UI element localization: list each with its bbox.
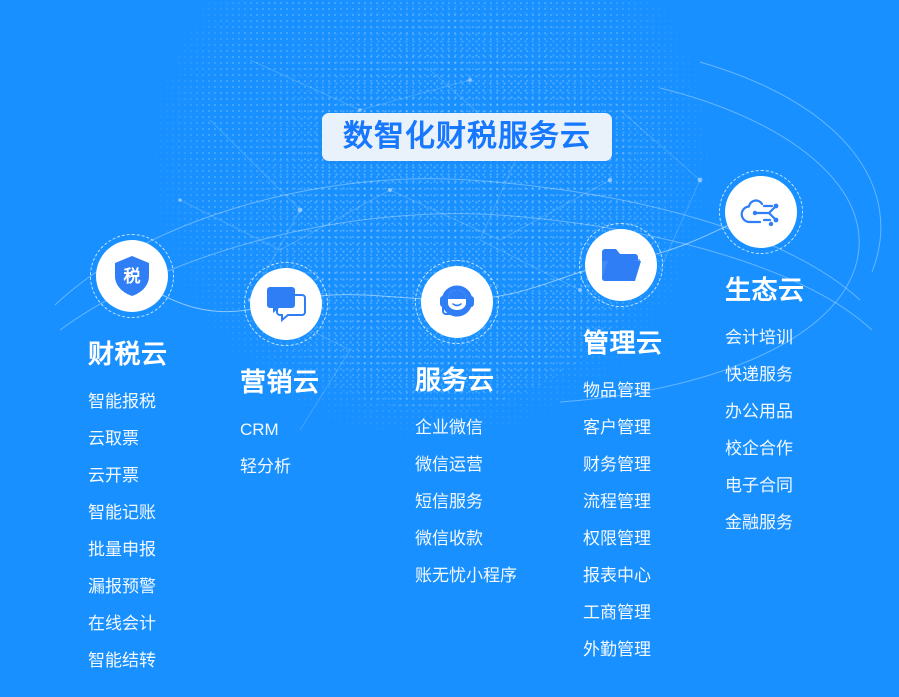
headset-agent-icon-wrap — [421, 266, 493, 338]
folder-icon — [585, 229, 657, 301]
column-heading: 服务云 — [415, 360, 517, 397]
column-ecology-cloud[interactable]: 生态云 会计培训 快递服务 办公用品 校企合作 电子合同 金融服务 — [725, 176, 805, 531]
list-item[interactable]: 校企合作 — [725, 440, 805, 457]
list-item[interactable]: 智能记账 — [88, 504, 168, 521]
list-item[interactable]: 财务管理 — [583, 456, 663, 473]
column-heading: 营销云 — [240, 362, 322, 399]
list-item[interactable]: 智能报税 — [88, 393, 168, 410]
list-item[interactable]: 办公用品 — [725, 403, 805, 420]
tax-shield-icon: 税 — [96, 240, 168, 312]
column-heading: 财税云 — [88, 334, 168, 371]
column-item-list: 智能报税 云取票 云开票 智能记账 批量申报 漏报预警 在线会计 智能结转 — [88, 393, 168, 669]
list-item[interactable]: 智能结转 — [88, 652, 168, 669]
list-item[interactable]: 客户管理 — [583, 419, 663, 436]
list-item[interactable]: 微信运营 — [415, 456, 517, 473]
banner-root: 数智化财税服务云 税 财税云 智能报税 云取票 云开票 智能记账 批量申报 漏报… — [0, 0, 899, 697]
list-item[interactable]: 漏报预警 — [88, 578, 168, 595]
banner-title: 数智化财税服务云 — [343, 122, 591, 152]
folder-icon-wrap — [585, 229, 657, 301]
list-item[interactable]: 物品管理 — [583, 382, 663, 399]
cloud-network-icon-wrap — [725, 176, 797, 248]
column-item-list: 物品管理 客户管理 财务管理 流程管理 权限管理 报表中心 工商管理 外勤管理 — [583, 382, 663, 658]
svg-text:税: 税 — [124, 266, 141, 286]
list-item[interactable]: 工商管理 — [583, 604, 663, 621]
cloud-network-icon — [725, 176, 797, 248]
list-item[interactable]: 报表中心 — [583, 567, 663, 584]
column-service-cloud[interactable]: 服务云 企业微信 微信运营 短信服务 微信收款 账无忧小程序 — [415, 266, 517, 584]
list-item[interactable]: 流程管理 — [583, 493, 663, 510]
column-marketing-cloud[interactable]: 营销云 CRM 轻分析 — [240, 268, 322, 475]
column-finance-tax-cloud[interactable]: 税 财税云 智能报税 云取票 云开票 智能记账 批量申报 漏报预警 在线会计 智… — [88, 240, 168, 669]
list-item[interactable]: 企业微信 — [415, 419, 517, 436]
column-item-list: CRM 轻分析 — [240, 421, 322, 475]
list-item[interactable]: 外勤管理 — [583, 641, 663, 658]
banner-title-badge: 数智化财税服务云 — [322, 113, 612, 161]
list-item[interactable]: CRM — [240, 421, 322, 438]
list-item[interactable]: 批量申报 — [88, 541, 168, 558]
headset-agent-icon — [421, 266, 493, 338]
list-item[interactable]: 会计培训 — [725, 329, 805, 346]
list-item[interactable]: 快递服务 — [725, 366, 805, 383]
list-item[interactable]: 权限管理 — [583, 530, 663, 547]
list-item[interactable]: 金融服务 — [725, 514, 805, 531]
chat-bubbles-icon-wrap — [250, 268, 322, 340]
list-item[interactable]: 账无忧小程序 — [415, 567, 517, 584]
column-item-list: 企业微信 微信运营 短信服务 微信收款 账无忧小程序 — [415, 419, 517, 584]
chat-bubbles-icon — [250, 268, 322, 340]
column-heading: 生态云 — [725, 270, 805, 307]
tax-shield-icon-wrap: 税 — [96, 240, 168, 312]
column-heading: 管理云 — [583, 323, 663, 360]
column-management-cloud[interactable]: 管理云 物品管理 客户管理 财务管理 流程管理 权限管理 报表中心 工商管理 外… — [583, 229, 663, 658]
list-item[interactable]: 电子合同 — [725, 477, 805, 494]
list-item[interactable]: 云取票 — [88, 430, 168, 447]
list-item[interactable]: 云开票 — [88, 467, 168, 484]
list-item[interactable]: 短信服务 — [415, 493, 517, 510]
column-item-list: 会计培训 快递服务 办公用品 校企合作 电子合同 金融服务 — [725, 329, 805, 531]
list-item[interactable]: 在线会计 — [88, 615, 168, 632]
list-item[interactable]: 轻分析 — [240, 458, 322, 475]
list-item[interactable]: 微信收款 — [415, 530, 517, 547]
